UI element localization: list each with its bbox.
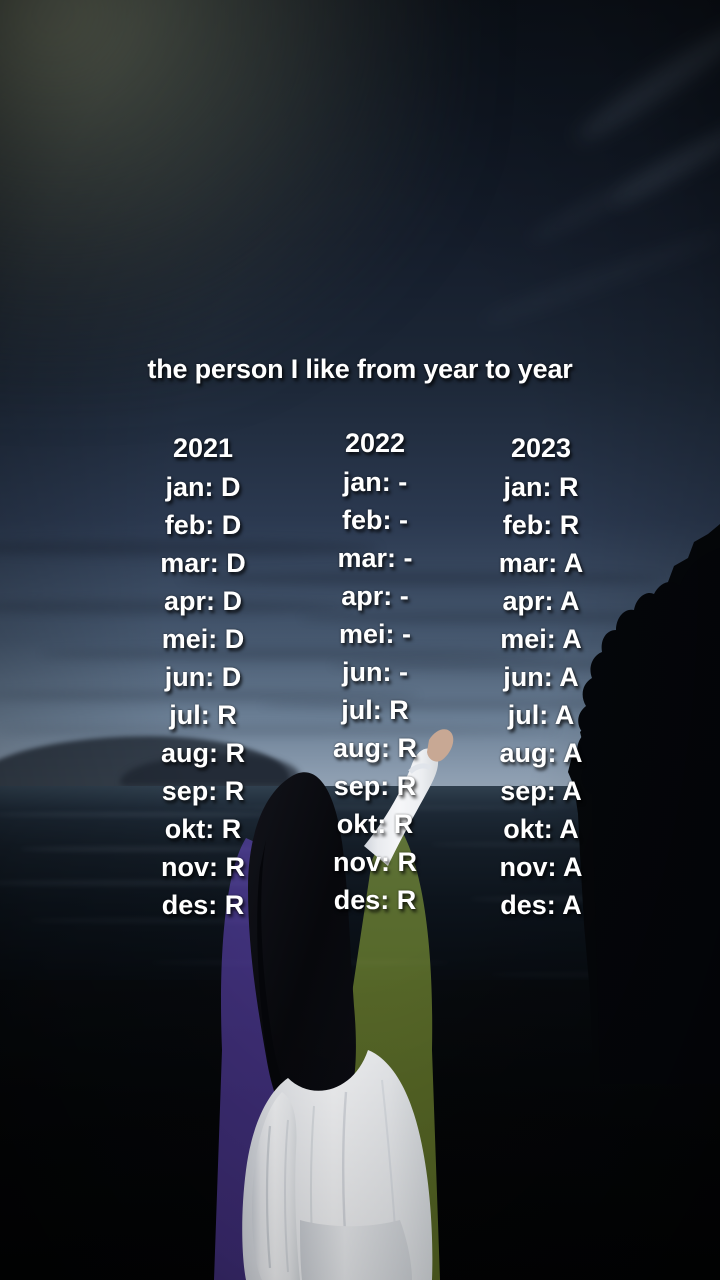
month-row: nov: R	[140, 848, 266, 886]
month-row: aug: R	[140, 734, 266, 772]
month-row: jan: -	[312, 463, 438, 501]
month-row: jan: D	[140, 468, 266, 506]
year-heading: 2023	[478, 430, 604, 466]
month-row: okt: R	[312, 805, 438, 843]
month-row: apr: A	[478, 582, 604, 620]
month-row: des: R	[312, 881, 438, 919]
month-row: des: A	[478, 886, 604, 924]
month-row: sep: A	[478, 772, 604, 810]
month-row: mar: A	[478, 544, 604, 582]
month-row: feb: -	[312, 501, 438, 539]
month-row: okt: R	[140, 810, 266, 848]
month-row: jan: R	[478, 468, 604, 506]
text-overlay: the person I like from year to year 2021…	[0, 0, 720, 1280]
month-row: jul: A	[478, 696, 604, 734]
year-column-2023: 2023 jan: R feb: R mar: A apr: A mei: A …	[478, 430, 604, 924]
year-heading: 2022	[312, 425, 438, 461]
month-row: apr: -	[312, 577, 438, 615]
year-column-2022: 2022 jan: - feb: - mar: - apr: - mei: - …	[312, 425, 438, 919]
month-row: jul: R	[140, 696, 266, 734]
year-heading: 2021	[140, 430, 266, 466]
month-row: jun: D	[140, 658, 266, 696]
month-row: mar: -	[312, 539, 438, 577]
month-row: sep: R	[312, 767, 438, 805]
month-row: jun: A	[478, 658, 604, 696]
year-columns: 2021 jan: D feb: D mar: D apr: D mei: D …	[0, 0, 720, 1280]
month-row: nov: A	[478, 848, 604, 886]
month-row: feb: D	[140, 506, 266, 544]
month-row: mar: D	[140, 544, 266, 582]
month-row: mei: A	[478, 620, 604, 658]
month-row: mei: -	[312, 615, 438, 653]
month-row: mei: D	[140, 620, 266, 658]
month-row: aug: A	[478, 734, 604, 772]
month-row: apr: D	[140, 582, 266, 620]
month-row: sep: R	[140, 772, 266, 810]
month-row: nov: R	[312, 843, 438, 881]
month-row: des: R	[140, 886, 266, 924]
month-row: aug: R	[312, 729, 438, 767]
month-row: okt: A	[478, 810, 604, 848]
month-row: jul: R	[312, 691, 438, 729]
wallpaper-screen: the person I like from year to year 2021…	[0, 0, 720, 1280]
year-column-2021: 2021 jan: D feb: D mar: D apr: D mei: D …	[140, 430, 266, 924]
month-row: jun: -	[312, 653, 438, 691]
month-row: feb: R	[478, 506, 604, 544]
